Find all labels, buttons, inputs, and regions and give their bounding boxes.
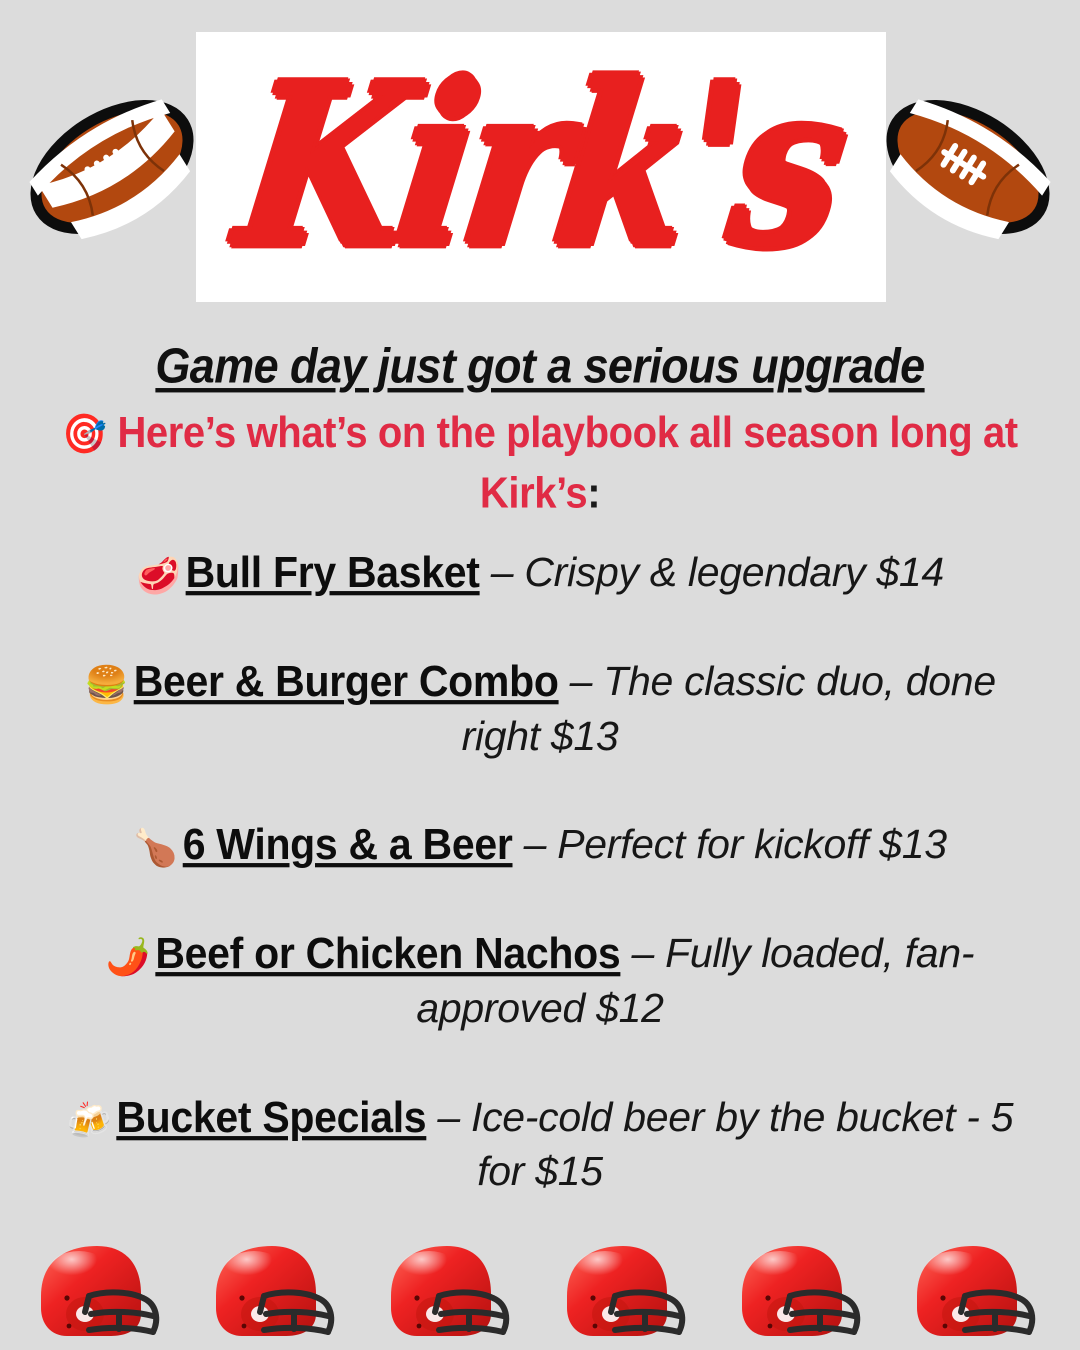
menu-item: 🌶️Beef or Chicken Nachos – Fully loaded,…: [62, 926, 1018, 1035]
football-helmet-icon: [27, 1240, 177, 1346]
menu-item-description: Ice-cold beer by the bucket - 5 for $15: [471, 1094, 1013, 1195]
football-helmet-icon: [903, 1240, 1053, 1346]
menu-item-separator: –: [513, 821, 558, 867]
subheadline: 🎯 Here’s what’s on the playbook all seas…: [0, 403, 1080, 524]
football-icon: [878, 52, 1058, 282]
poultry-leg-icon: 🍗: [133, 827, 178, 868]
brand-logo-box: Kirk's: [196, 32, 886, 302]
menu-item-description: Perfect for kickoff $13: [557, 821, 947, 867]
menu-item-name: Bucket Specials: [116, 1088, 426, 1146]
hamburger-icon: 🍔: [84, 664, 129, 705]
cut-of-meat-icon: 🥩: [136, 555, 181, 596]
menu-item: 🥩Bull Fry Basket – Crispy & legendary $1…: [62, 545, 1018, 600]
brand-wordmark: Kirk's: [230, 56, 853, 278]
menu-item-separator: –: [559, 658, 604, 704]
football-helmet-icon: [377, 1240, 527, 1346]
menu-item-name: 6 Wings & a Beer: [183, 816, 513, 874]
header-banner: Kirk's: [0, 0, 1080, 330]
menu-item-separator: –: [426, 1094, 471, 1140]
menu-item-name: Beer & Burger Combo: [134, 652, 559, 710]
menu-item: 🍻Bucket Specials – Ice-cold beer by the …: [62, 1090, 1018, 1199]
menu-list: 🥩Bull Fry Basket – Crispy & legendary $1…: [0, 545, 1080, 1199]
football-helmet-icon: [553, 1240, 703, 1346]
subheadline-text: Here’s what’s on the playbook all season…: [117, 409, 1017, 517]
helmet-row: [0, 1232, 1080, 1350]
menu-item-separator: –: [620, 930, 665, 976]
menu-item-name: Bull Fry Basket: [186, 543, 480, 601]
headline-section: Game day just got a serious upgrade 🎯 He…: [0, 340, 1080, 519]
football-helmet-icon: [202, 1240, 352, 1346]
page-title: Game day just got a serious upgrade: [0, 337, 1080, 393]
menu-item-separator: –: [480, 549, 525, 595]
menu-item-description: Crispy & legendary $14: [524, 549, 944, 595]
hot-pepper-icon: 🌶️: [106, 936, 151, 977]
subheadline-colon: :: [587, 470, 600, 518]
bullseye-target-icon: 🎯: [62, 411, 106, 455]
menu-item-name: Beef or Chicken Nachos: [155, 925, 620, 983]
menu-item: 🍔Beer & Burger Combo – The classic duo, …: [62, 654, 1018, 763]
football-helmet-icon: [728, 1240, 878, 1346]
menu-item: 🍗6 Wings & a Beer – Perfect for kickoff …: [62, 817, 1018, 872]
football-icon: [22, 52, 202, 282]
clinking-beer-mugs-icon: 🍻: [67, 1100, 112, 1141]
